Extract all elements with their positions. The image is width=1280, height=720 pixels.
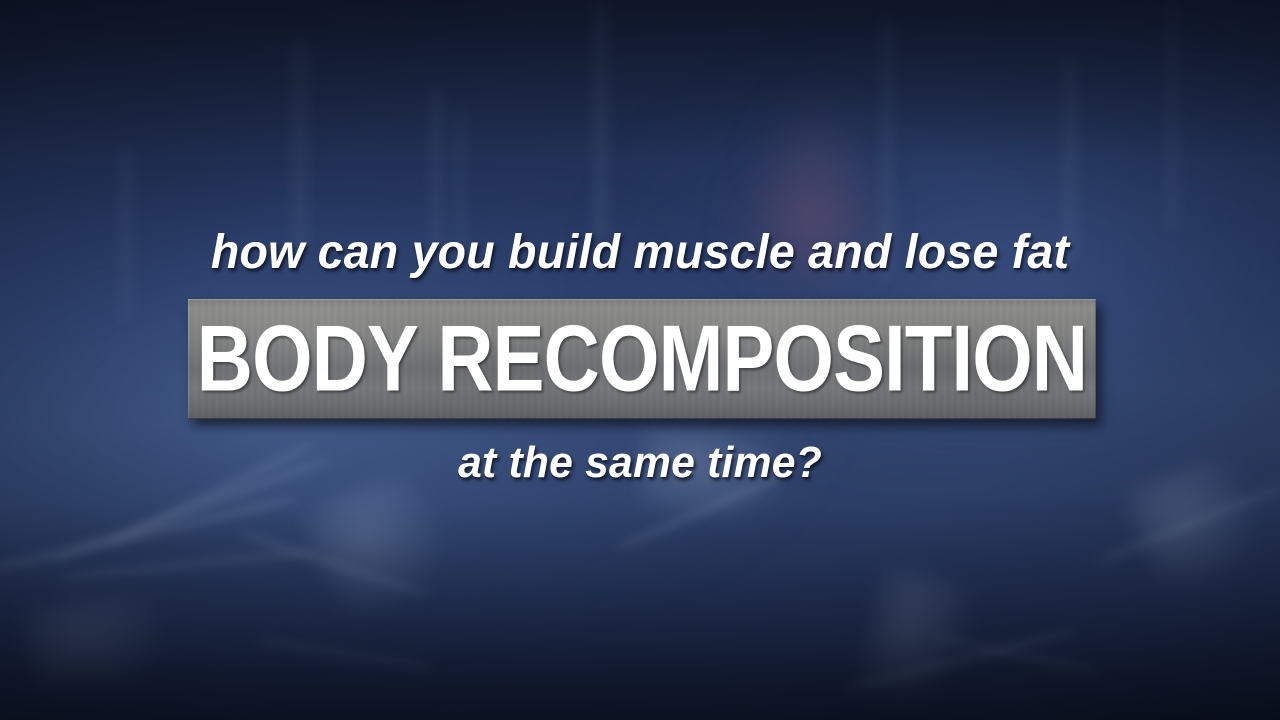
headline-top-line: how can you build muscle and lose fat xyxy=(19,225,1261,281)
headline-bottom-line: at the same time? xyxy=(19,437,1261,489)
title-card-slide: how can you build muscle and lose fat BO… xyxy=(0,0,1280,720)
text-layer: how can you build muscle and lose fat BO… xyxy=(0,0,1280,720)
main-title: BODY RECOMPOSITION xyxy=(258,298,1025,420)
title-plaque: BODY RECOMPOSITION xyxy=(188,299,1096,419)
